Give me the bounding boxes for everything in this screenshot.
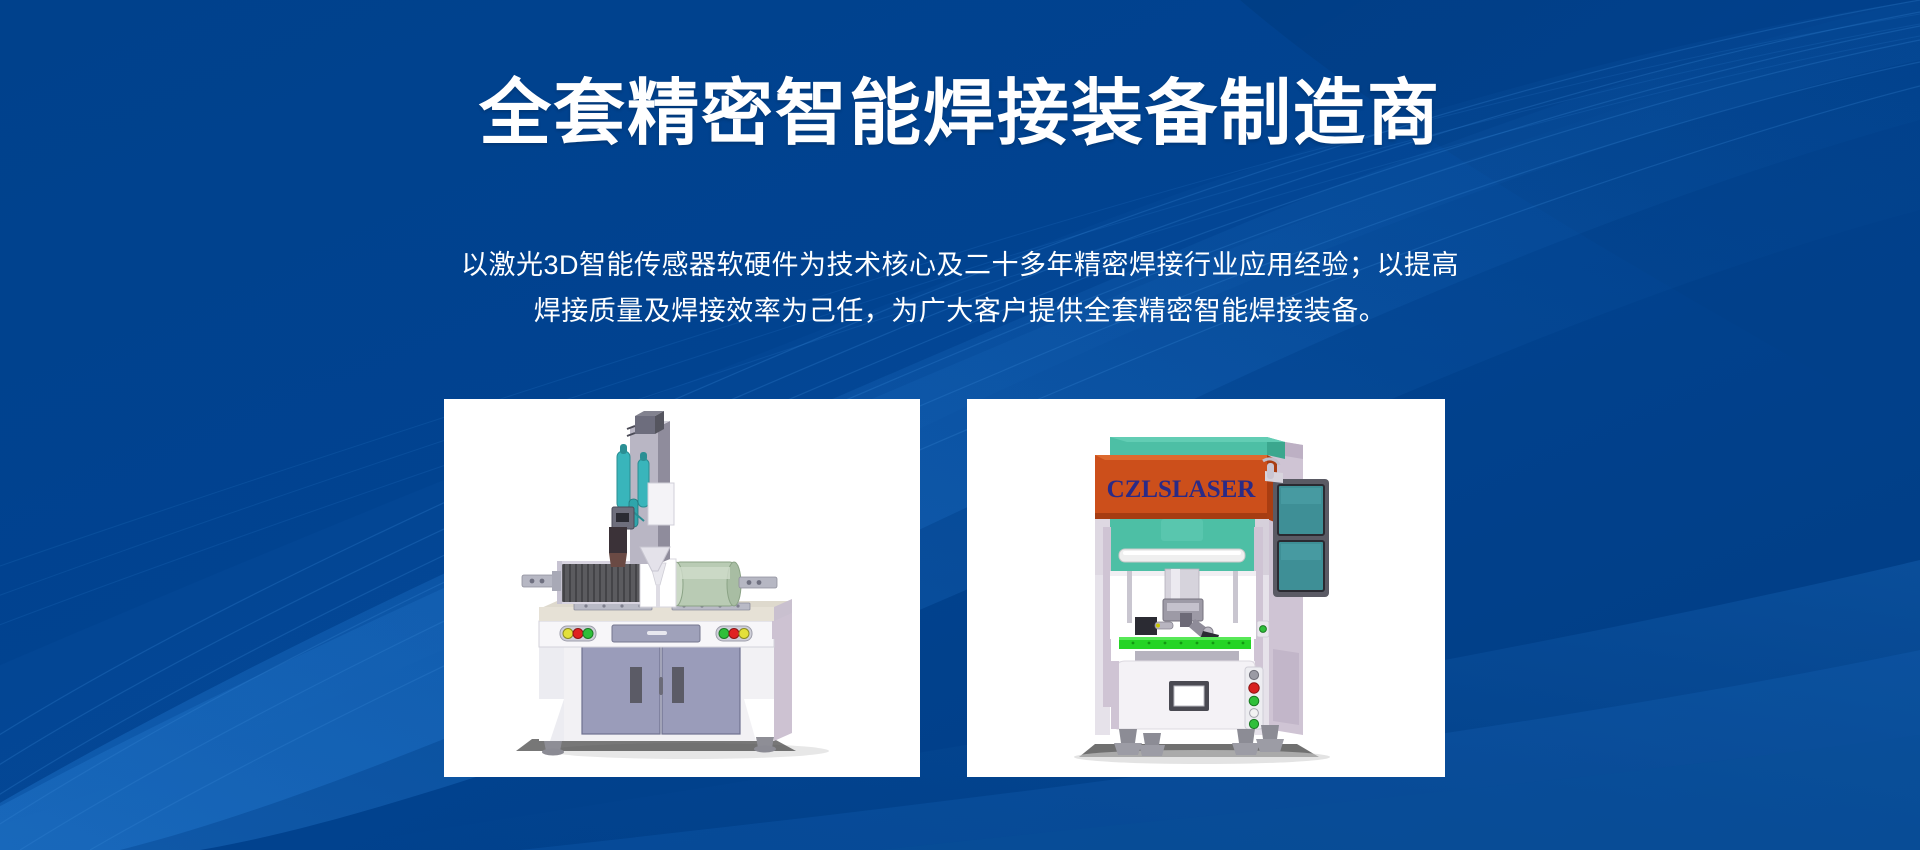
precision-welding-workstation-image <box>444 399 920 777</box>
product-card-right[interactable]: CZLSLASER <box>967 399 1445 777</box>
hero-subtitle-line-1: 以激光3D智能传感器软硬件为技术核心及二十多年精密焊接行业应用经验；以提高 <box>400 242 1520 288</box>
hero-subtitle-line-2: 焊接质量及焊接效率为己任，为广大客户提供全套精密智能焊接装备。 <box>400 288 1520 334</box>
product-card-left[interactable] <box>444 399 920 777</box>
product-gallery: CZLSLASER <box>0 399 1920 777</box>
hero-subtitle: 以激光3D智能传感器软硬件为技术核心及二十多年精密焊接行业应用经验；以提高 焊接… <box>400 242 1520 334</box>
page-title: 全套精密智能焊接装备制造商 <box>0 78 1920 150</box>
banner-stage: 全套精密智能焊接装备制造商 以激光3D智能传感器软硬件为技术核心及二十多年精密焊… <box>0 0 1920 850</box>
czlslaser-welding-cell-image: CZLSLASER <box>967 399 1445 777</box>
machine-brand-label: CZLSLASER <box>1107 476 1257 503</box>
